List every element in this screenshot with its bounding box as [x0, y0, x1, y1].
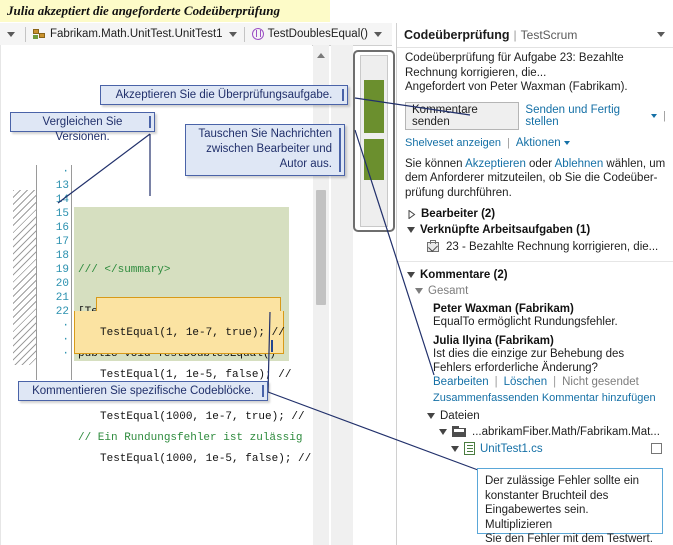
- section-files-label: Dateien: [440, 410, 480, 422]
- comment-group-label: Gesamt: [428, 285, 468, 297]
- scrollbar-thumb[interactable]: [316, 190, 326, 305]
- namespace-dropdown[interactable]: Fabrikam.Math.UnitTest.UnitTest1: [29, 24, 241, 45]
- editor-vertical-scrollbar[interactable]: [313, 45, 329, 545]
- review-link-row: Shelveset anzeigen | Aktionen: [397, 134, 673, 149]
- callout-comment-blocks: Kommentieren Sie spezifische Codeblöcke.: [18, 381, 268, 401]
- accept-text-post: wählen, um: [603, 158, 665, 170]
- callout-bracket: [353, 50, 395, 232]
- line-number: ·: [41, 347, 69, 361]
- edit-comment-link[interactable]: Bearbeiten: [433, 376, 489, 388]
- namespace-icon: [33, 28, 46, 40]
- line-number: ·: [41, 165, 69, 179]
- line-number: 21: [41, 291, 69, 305]
- show-shelveset-link[interactable]: Shelveset anzeigen: [405, 137, 501, 149]
- line-number: 15: [41, 207, 69, 221]
- folder-path-label: ...abrikamFiber.Math/Fabrikam.Mat...: [472, 426, 660, 438]
- comment-text: EqualTo ermöglicht Rundungsfehler.: [433, 315, 666, 329]
- line-number: 18: [41, 249, 69, 263]
- chevron-down-icon: [451, 446, 459, 452]
- editor-margin-line-2: [71, 165, 72, 380]
- actions-link[interactable]: Aktionen: [516, 137, 570, 149]
- line-number: 20: [41, 277, 69, 291]
- section-comments-label: Kommentare (2): [420, 269, 508, 281]
- callout-accept-task-text: Akzeptieren Sie die Überprüfungsaufgabe.: [116, 89, 333, 101]
- section-linked-work-items[interactable]: Verknüpfte Arbeitsaufgaben (1): [397, 222, 673, 238]
- accept-text-mid: oder: [526, 158, 555, 170]
- callout-inline-line2: konstanter Bruchteil des: [485, 489, 655, 504]
- chevron-down-icon: [407, 272, 415, 278]
- comment-text-line2: Fehlers erforderliche Änderung?: [433, 361, 666, 375]
- callout-inline-line4: Sie den Fehler mit dem Testwert.: [485, 532, 655, 545]
- folder-row[interactable]: ...abrikamFiber.Math/Fabrikam.Mat...: [397, 424, 673, 440]
- navbar-divider: [25, 27, 26, 42]
- line-number: 13: [41, 179, 69, 193]
- work-item-row[interactable]: 23 - Bezahlte Rechnung korrigieren, die.…: [397, 238, 673, 256]
- navbar-divider-2: [244, 27, 245, 42]
- comment-actions-separator: |: [495, 376, 498, 388]
- callout-comment-blocks-text: Kommentieren Sie spezifische Codeblöcke.: [32, 385, 254, 397]
- comment-text-line1: Ist dies die einzige zur Behebung des: [433, 347, 666, 361]
- chevron-down-icon: [439, 429, 447, 435]
- navbar-dropdown-button[interactable]: [0, 24, 22, 45]
- comment-item: Peter Waxman (Fabrikam) EqualTo ermöglic…: [397, 299, 673, 329]
- chevron-down-icon: [564, 141, 570, 145]
- comment-item: Julia Ilyina (Fabrikam) Ist dies die ein…: [397, 329, 673, 375]
- callout-exchange-line3: Autor aus.: [192, 157, 332, 172]
- status-banner: Julia akzeptiert die angeforderte Codeüb…: [0, 0, 330, 22]
- add-summary-comment-link[interactable]: Zusammenfassenden Kommentar hinzufügen: [433, 392, 656, 404]
- section-comments[interactable]: Kommentare (2): [397, 267, 673, 283]
- line-number: 14: [41, 193, 69, 207]
- file-checkbox[interactable]: [651, 443, 662, 454]
- pane-title: Codeüberprüfung: [397, 28, 510, 42]
- section-files[interactable]: Dateien: [397, 408, 673, 424]
- chevron-down-icon: [7, 32, 15, 37]
- delete-comment-link[interactable]: Löschen: [504, 376, 547, 388]
- accept-text-pre: Sie können: [405, 158, 465, 170]
- pane-subtitle: TestScrum: [521, 28, 578, 42]
- chevron-down-icon: [229, 32, 237, 37]
- comment-author: Peter Waxman (Fabrikam): [433, 303, 666, 315]
- callout-accent-bar: [149, 116, 151, 128]
- chevron-down-icon: [427, 413, 435, 419]
- section-reviewers[interactable]: Bearbeiter (2): [397, 206, 673, 222]
- comment-actions-row: Bearbeiten | Löschen | Nicht gesendet: [397, 375, 673, 388]
- decline-link[interactable]: Ablehnen: [555, 158, 604, 170]
- highlighted-code-line: TestEqual(1000, 1e-7, true); //: [100, 410, 300, 424]
- method-label: TestDoublesEqual(): [268, 28, 370, 40]
- chevron-down-icon[interactable]: [657, 32, 665, 37]
- folder-icon: [452, 426, 467, 438]
- comment-group-overall[interactable]: Gesamt: [397, 283, 673, 299]
- file-icon: [464, 442, 475, 455]
- method-dropdown[interactable]: TestDoublesEqual(): [248, 24, 386, 45]
- line-number: 16: [41, 221, 69, 235]
- section-reviewers-label: Bearbeiter (2): [421, 208, 495, 220]
- add-summary-comment-row: Zusammenfassenden Kommentar hinzufügen: [397, 388, 673, 404]
- callout-inline-line1: Der zulässige Fehler sollte ein: [485, 474, 655, 489]
- line-number: ·: [41, 333, 69, 347]
- accept-instructions-line2: dem Anforderer mitzuteilen, ob Sie die C…: [397, 171, 673, 186]
- editor-margin-line-1: [36, 165, 37, 380]
- code-line: /// </summary>: [74, 263, 289, 277]
- namespace-label: Fabrikam.Math.UnitTest.UnitTest1: [50, 28, 225, 40]
- highlighted-code-line: TestEqual(1, 1e-5, false); //: [100, 368, 300, 382]
- text-caret: [271, 340, 273, 352]
- comment-actions-separator-2: |: [553, 376, 556, 388]
- accept-link[interactable]: Akzeptieren: [465, 158, 526, 170]
- callout-exchange-messages: Tauschen Sie Nachrichten zwischen Bearbe…: [185, 124, 345, 176]
- callout-accept-task: Akzeptieren Sie die Überprüfungsaufgabe.: [100, 85, 348, 105]
- line-number: 22: [41, 305, 69, 319]
- callout-inline-comment: Der zulässige Fehler sollte ein konstant…: [477, 468, 663, 534]
- line-number: 19: [41, 263, 69, 277]
- send-and-finish-link[interactable]: Senden und Fertig stellen: [525, 104, 657, 128]
- chevron-down-icon: [415, 288, 423, 294]
- send-comments-button[interactable]: Kommentare senden: [405, 102, 519, 130]
- callout-exchange-line1: Tauschen Sie Nachrichten: [192, 127, 332, 142]
- send-and-finish-label: Senden und Fertig stellen: [525, 104, 648, 128]
- diff-change-margin: [13, 190, 37, 365]
- chevron-down-icon: [374, 32, 382, 37]
- accept-instructions-line3: prüfung durchführen.: [397, 186, 673, 201]
- editor-navigation-bar: Fabrikam.Math.UnitTest.UnitTest1 TestDou…: [0, 23, 392, 46]
- chevron-right-icon: [408, 210, 416, 219]
- review-requested-by: Angefordert von Peter Waxman (Fabrikam).: [397, 80, 673, 95]
- actions-label: Aktionen: [516, 137, 561, 149]
- highlighted-code-line: TestEqual(1000, 1e-5, false); //: [100, 452, 300, 466]
- highlighted-code-line: TestEqual(1, 1e-7, true); //: [100, 326, 300, 340]
- line-number: ·: [41, 319, 69, 333]
- section-linked-work-items-label: Verknüpfte Arbeitsaufgaben (1): [420, 224, 590, 236]
- file-name-link[interactable]: UnitTest1.cs: [480, 443, 543, 455]
- callout-exchange-line2: zwischen Bearbeiter und: [192, 142, 332, 157]
- code-review-pane: Codeüberprüfung | TestScrum Codeüberprüf…: [396, 23, 673, 545]
- link-row-separator: |: [507, 137, 510, 149]
- scroll-up-arrow-icon[interactable]: [317, 53, 325, 58]
- chevron-down-icon: [407, 227, 415, 233]
- method-icon: [252, 28, 264, 40]
- pane-title-separator: |: [510, 28, 521, 42]
- pane-header: Codeüberprüfung | TestScrum: [397, 23, 673, 48]
- callout-accent-bar: [342, 89, 344, 101]
- accept-instructions-line1: Sie können Akzeptieren oder Ablehnen wäh…: [397, 157, 673, 172]
- review-description-line2: Rechnung korrigieren, die...: [397, 66, 673, 81]
- file-row[interactable]: UnitTest1.cs: [397, 440, 673, 457]
- work-item-icon: [425, 240, 441, 254]
- work-item-label: 23 - Bezahlte Rechnung korrigieren, die.…: [446, 241, 658, 253]
- callout-inline-line3: Eingabewertes sein. Multiplizieren: [485, 503, 655, 532]
- action-row-separator: |: [663, 110, 666, 122]
- status-banner-text: Julia akzeptiert die angeforderte Codeüb…: [0, 3, 280, 19]
- screenshot-root: Julia akzeptiert die angeforderte Codeüb…: [0, 0, 673, 545]
- comment-not-sent-label: Nicht gesendet: [562, 376, 639, 388]
- line-number: 17: [41, 235, 69, 249]
- review-description-line1: Codeüberprüfung für Aufgabe 23: Bezahlte: [397, 51, 673, 66]
- line-number-gutter: · 13 14 15 16 17 18 19 20 21 22 · · ·: [41, 165, 69, 361]
- section-divider: [397, 261, 673, 262]
- overview-margin-column[interactable]: [331, 45, 353, 545]
- callout-accent-bar: [262, 385, 264, 397]
- comment-author: Julia Ilyina (Fabrikam): [433, 335, 666, 347]
- callout-accent-bar: [339, 128, 341, 172]
- callout-compare-versions: Vergleichen Sie Versionen.: [10, 112, 155, 132]
- review-action-row: Kommentare senden Senden und Fertig stel…: [397, 99, 673, 130]
- chevron-down-icon: [651, 114, 657, 118]
